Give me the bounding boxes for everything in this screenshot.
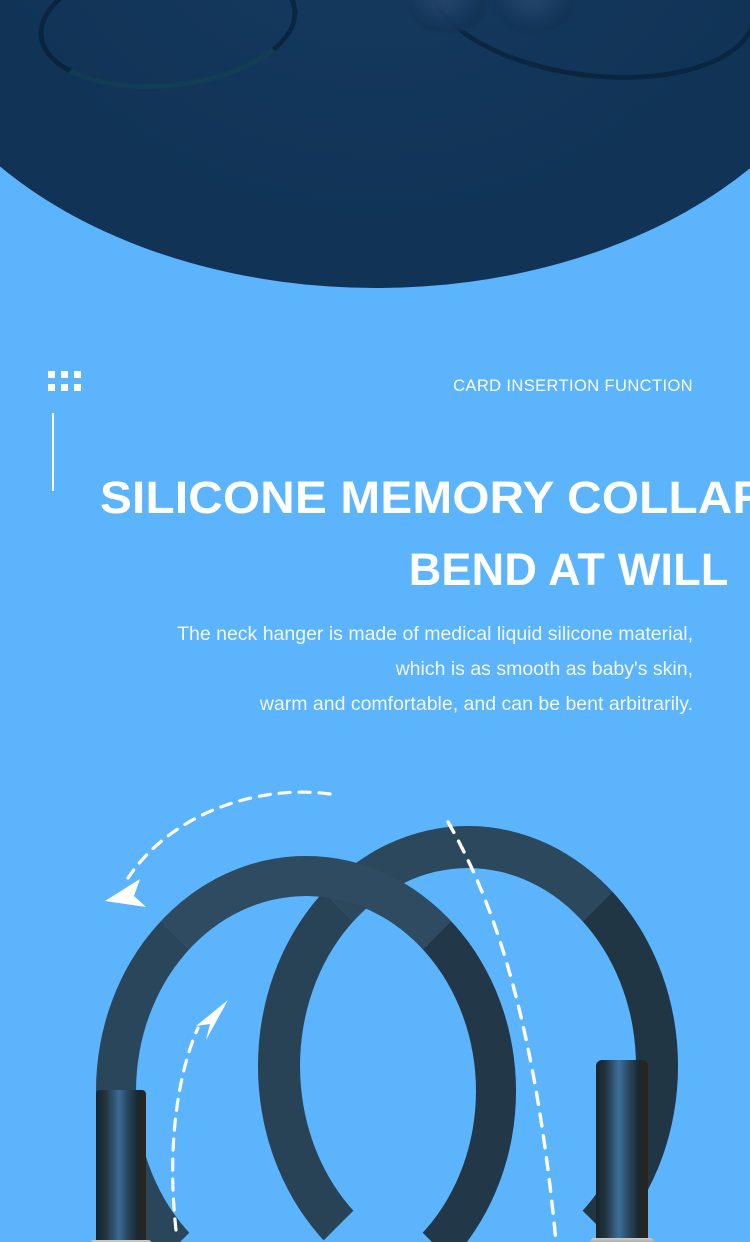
product-feature-page: CARD INSERTION FUNCTION SILICONE MEMORY … xyxy=(0,0,750,1242)
dot xyxy=(48,371,55,378)
dot xyxy=(61,384,68,391)
dot xyxy=(74,371,81,378)
product-image xyxy=(0,760,750,1242)
metal-ferrule-right xyxy=(590,1238,654,1242)
dot xyxy=(61,371,68,378)
headline-line-1: SILICONE MEMORY COLLAR xyxy=(100,472,750,523)
eyebrow-label: CARD INSERTION FUNCTION xyxy=(453,377,693,396)
body-copy: The neck hanger is made of medical liqui… xyxy=(120,617,693,722)
dot xyxy=(74,384,81,391)
neckband-leg-left xyxy=(96,1090,146,1242)
hero-dark-panel xyxy=(0,0,750,288)
body-line-3: warm and comfortable, and can be bent ar… xyxy=(120,687,693,722)
accent-rule xyxy=(52,413,54,491)
neckband-leg-right xyxy=(596,1060,648,1242)
page-title: SILICONE MEMORY COLLAR BEND AT WILL xyxy=(100,462,729,606)
body-line-1: The neck hanger is made of medical liqui… xyxy=(120,617,693,652)
dot xyxy=(48,384,55,391)
bend-arrow-outer-head xyxy=(105,879,146,907)
dot-grid-icon xyxy=(48,371,81,391)
body-line-2: which is as smooth as baby's skin, xyxy=(120,652,693,687)
headline-line-2: BEND AT WILL xyxy=(136,534,729,606)
